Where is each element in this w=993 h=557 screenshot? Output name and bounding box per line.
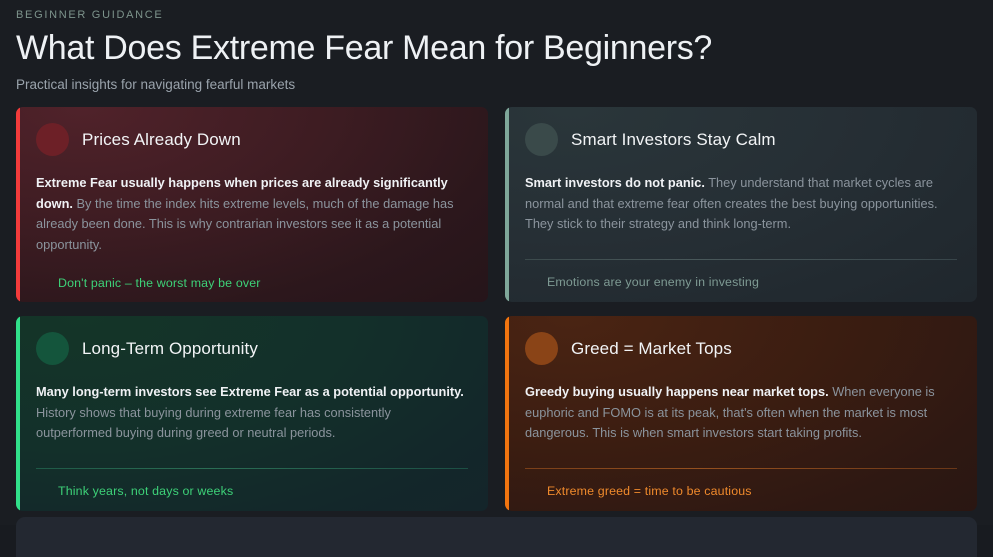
card-body-text: History shows that buying during extreme… [36,405,391,441]
card-header: Smart Investors Stay Calm [525,123,957,156]
card-note: Don't panic – the worst may be over [36,261,468,291]
chart-down-circle-icon [36,123,69,156]
card-body-lead: Many long-term investors see Extreme Fea… [36,384,464,399]
card-body-lead: Greedy buying usually happens near marke… [525,384,829,399]
card-header: Long-Term Opportunity [36,332,468,365]
card-title: Greed = Market Tops [571,338,732,359]
card-header: Prices Already Down [36,123,468,156]
brain-circle-icon [525,123,558,156]
card-note: Extreme greed = time to be cautious [525,469,957,499]
section-eyebrow: BEGINNER GUIDANCE [16,8,977,22]
card-title: Prices Already Down [82,129,241,150]
card-body: Greedy buying usually happens near marke… [525,382,957,462]
guidance-card-grid: Prices Already Down Extreme Fear usually… [0,107,993,511]
guidance-card-prices-already-down[interactable]: Prices Already Down Extreme Fear usually… [16,107,488,302]
card-body: Smart investors do not panic. They under… [525,173,957,253]
card-title: Long-Term Opportunity [82,338,258,359]
card-body: Many long-term investors see Extreme Fea… [36,382,468,462]
card-note: Think years, not days or weeks [36,469,468,499]
card-header: Greed = Market Tops [525,332,957,365]
card-body-lead: Smart investors do not panic. [525,175,705,190]
guidance-card-greed-equals-market-tops[interactable]: Greed = Market Tops Greedy buying usuall… [505,316,977,511]
page-subtitle: Practical insights for navigating fearfu… [16,77,977,93]
seedling-circle-icon [36,332,69,365]
card-body: Extreme Fear usually happens when prices… [36,173,468,255]
guidance-card-long-term-opportunity[interactable]: Long-Term Opportunity Many long-term inv… [16,316,488,511]
next-section-panel [16,517,977,557]
beginner-guidance-page: BEGINNER GUIDANCE What Does Extreme Fear… [0,0,993,525]
fire-circle-icon [525,332,558,365]
guidance-card-smart-investors-stay-calm[interactable]: Smart Investors Stay Calm Smart investor… [505,107,977,302]
page-header: BEGINNER GUIDANCE What Does Extreme Fear… [0,0,993,93]
card-body-text: By the time the index hits extreme level… [36,196,454,252]
card-note: Emotions are your enemy in investing [525,260,957,290]
card-title: Smart Investors Stay Calm [571,129,776,150]
page-title: What Does Extreme Fear Mean for Beginner… [16,28,977,68]
